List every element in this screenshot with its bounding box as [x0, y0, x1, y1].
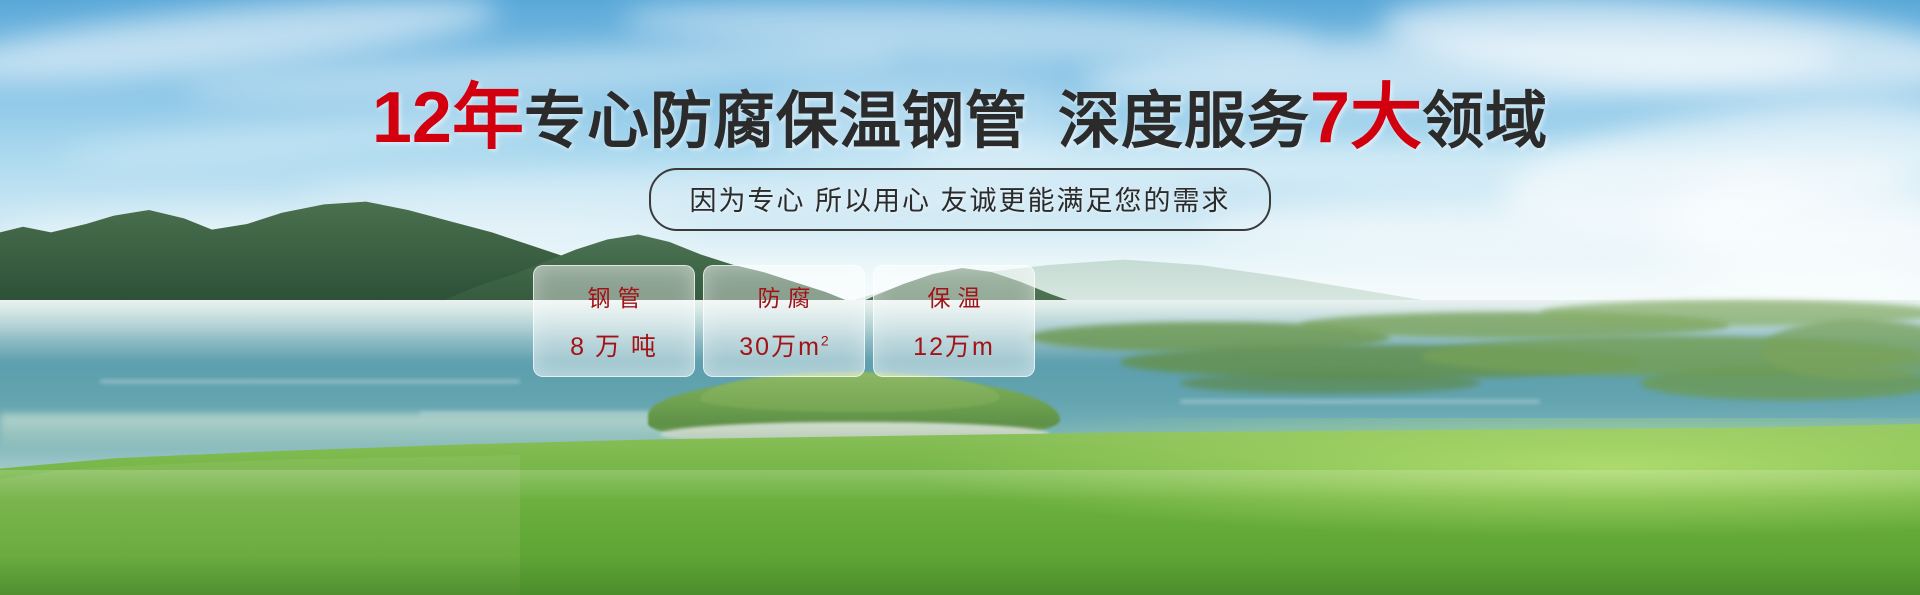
stat-card-value: 12万m: [913, 327, 995, 363]
banner-subtitle-pill: 因为专心 所以用心 友诚更能满足您的需求: [649, 168, 1270, 231]
headline-fields-number: 7: [1310, 78, 1350, 158]
stat-card-value: 30万m2: [739, 327, 828, 363]
stat-card-value-text: 8 万 吨: [570, 333, 658, 361]
headline-fields-unit: 大: [1350, 78, 1422, 158]
water-streak: [1180, 400, 1540, 403]
stat-card-title: 防腐: [751, 279, 818, 313]
stat-card-superscript: 2: [821, 333, 829, 349]
stat-card-insulation[interactable]: 保温 12万m: [873, 265, 1035, 377]
stat-card-steel-pipe[interactable]: 钢管 8 万 吨: [533, 265, 695, 377]
marsh-patch: [1180, 372, 1480, 394]
headline-fields-text: 领域: [1422, 87, 1548, 156]
headline-years-unit: 年: [452, 78, 524, 158]
stat-card-anticorrosion[interactable]: 防腐 30万m2: [703, 265, 865, 377]
grass-shadow-band: [0, 556, 1920, 595]
stat-card-value-text: 12万m: [913, 333, 995, 361]
stat-card-value: 8 万 吨: [570, 327, 658, 363]
water-streak: [100, 380, 520, 383]
stat-card-title: 钢管: [581, 279, 648, 313]
headline-main-text: 专心防腐保温钢管: [524, 87, 1028, 156]
stat-card-title: 保温: [921, 279, 988, 313]
stat-card-value-text: 30万m: [739, 333, 821, 361]
hero-banner: 12年专心防腐保温钢管深度服务7大领域 因为专心 所以用心 友诚更能满足您的需求…: [0, 0, 1920, 595]
banner-subtitle-wrapper: 因为专心 所以用心 友诚更能满足您的需求: [0, 168, 1920, 231]
headline-years-number: 12: [372, 78, 452, 158]
stat-cards-group: 钢管 8 万 吨 防腐 30万m2 保温 12万m: [533, 265, 1035, 377]
banner-headline: 12年专心防腐保温钢管深度服务7大领域: [0, 82, 1920, 154]
headline-service-text: 深度服务: [1058, 87, 1310, 156]
grass-light-band: [0, 470, 1920, 500]
